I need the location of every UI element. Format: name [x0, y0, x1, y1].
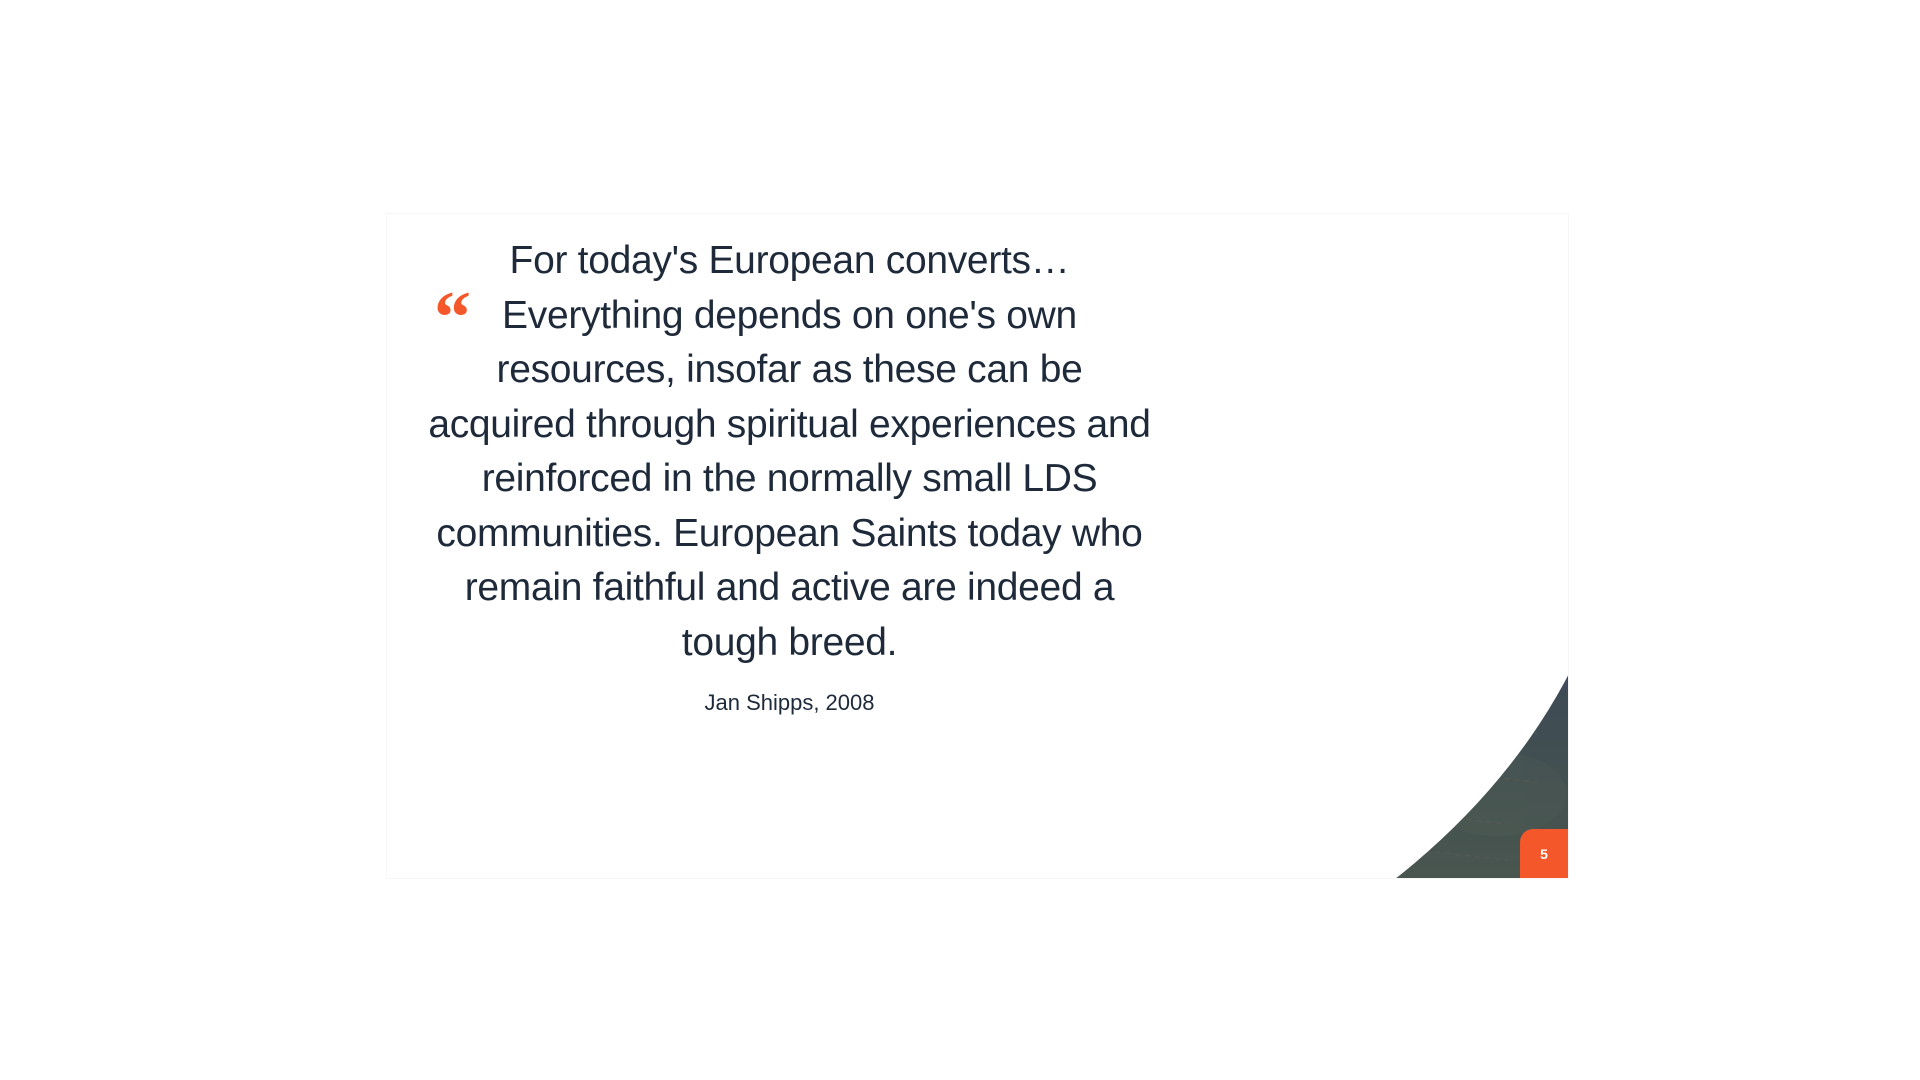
landmass-zealand — [1319, 635, 1347, 653]
quote-text: For today's European converts…Everything… — [427, 234, 1152, 670]
slide-root: Nordic Countries Central and Southern Eu… — [0, 0, 1920, 1080]
water-mediterranean — [1087, 850, 1327, 878]
landmass-aland — [1445, 437, 1461, 463]
lake-vanern — [1350, 527, 1394, 551]
quote-block: “ For today's European converts…Everythi… — [427, 234, 1152, 717]
slide-canvas: Nordic Countries Central and Southern Eu… — [387, 214, 1568, 878]
quote-attribution: Jan Shipps, 2008 — [427, 689, 1152, 717]
page-number-badge[interactable]: 5 — [1520, 829, 1568, 878]
quote-mark-icon: “ — [434, 281, 467, 355]
